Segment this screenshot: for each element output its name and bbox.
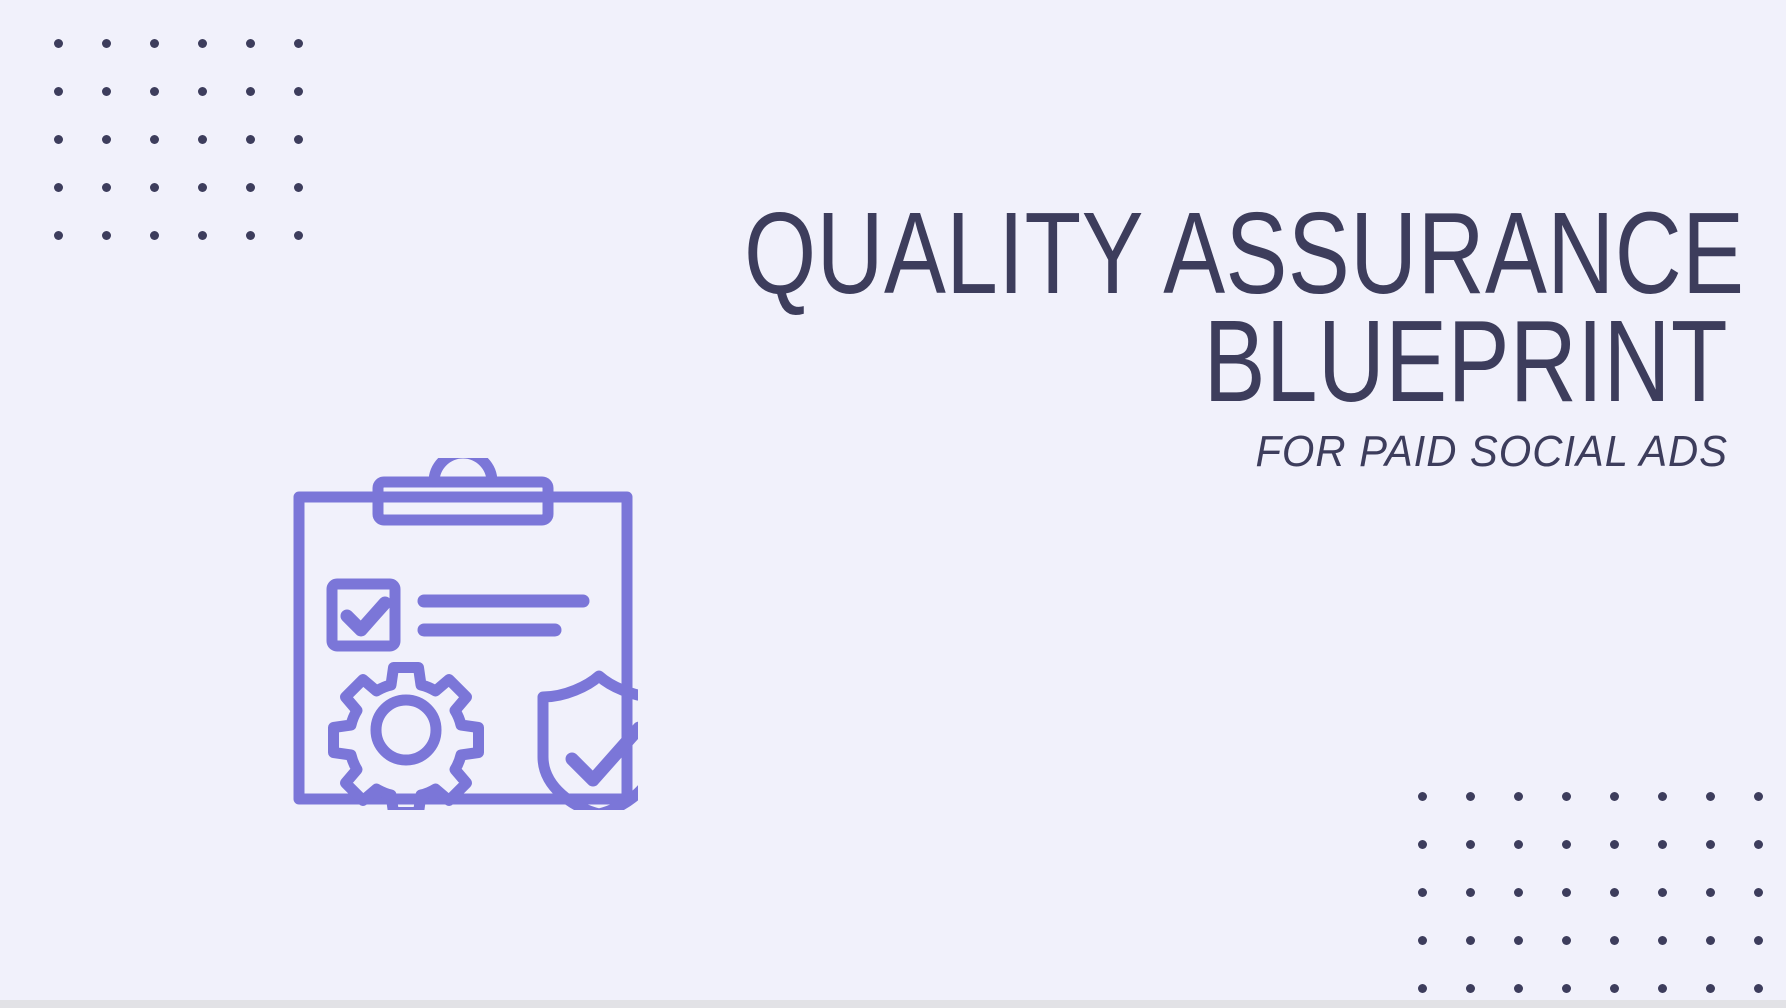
- gear-outline: [334, 668, 479, 811]
- dot: [1418, 792, 1427, 801]
- page-title-line-2: BLUEPRINT: [744, 308, 1728, 416]
- dot: [1754, 840, 1763, 849]
- dot: [102, 231, 111, 240]
- dot: [1610, 936, 1619, 945]
- dot: [1514, 936, 1523, 945]
- checkbox-check-mark: [347, 603, 385, 630]
- dot: [54, 87, 63, 96]
- dot: [246, 87, 255, 96]
- dot: [1658, 840, 1667, 849]
- dot: [1610, 792, 1619, 801]
- dot: [246, 135, 255, 144]
- dot: [150, 231, 159, 240]
- dot: [1754, 936, 1763, 945]
- dot: [1466, 936, 1475, 945]
- dot: [1658, 792, 1667, 801]
- dot: [1418, 984, 1427, 993]
- dot: [246, 231, 255, 240]
- dot: [102, 135, 111, 144]
- dot: [198, 231, 207, 240]
- dot: [1706, 936, 1715, 945]
- dot: [1658, 888, 1667, 897]
- dot: [150, 39, 159, 48]
- dot: [1562, 936, 1571, 945]
- dot: [1658, 936, 1667, 945]
- decorative-dot-grid-top-left: [34, 19, 322, 259]
- dot: [294, 231, 303, 240]
- dot: [54, 135, 63, 144]
- dot: [246, 183, 255, 192]
- dot: [198, 183, 207, 192]
- dot: [1754, 984, 1763, 993]
- dot: [1466, 792, 1475, 801]
- decorative-dot-grid-bottom-right: [1398, 772, 1782, 1008]
- dot: [1514, 792, 1523, 801]
- dot: [294, 135, 303, 144]
- dot: [102, 87, 111, 96]
- dot: [1610, 840, 1619, 849]
- clipboard-checklist-gear-shield-icon: [288, 458, 638, 810]
- dot: [1514, 840, 1523, 849]
- dot: [1466, 984, 1475, 993]
- dot: [1562, 840, 1571, 849]
- dot: [54, 183, 63, 192]
- dot: [198, 87, 207, 96]
- dot: [1706, 792, 1715, 801]
- dot: [1706, 840, 1715, 849]
- dot: [1514, 888, 1523, 897]
- dot: [1706, 888, 1715, 897]
- dot: [150, 183, 159, 192]
- dot: [102, 39, 111, 48]
- dot: [102, 183, 111, 192]
- dot: [246, 39, 255, 48]
- dot: [1466, 840, 1475, 849]
- dot: [1562, 888, 1571, 897]
- bottom-strip: [0, 1000, 1786, 1008]
- dot: [1418, 840, 1427, 849]
- dot: [1754, 888, 1763, 897]
- dot: [1610, 984, 1619, 993]
- dot: [1706, 984, 1715, 993]
- dot: [1418, 936, 1427, 945]
- dot: [294, 39, 303, 48]
- dot: [150, 135, 159, 144]
- dot: [1514, 984, 1523, 993]
- page-subtitle: FOR PAID SOCIAL ADS: [560, 430, 1729, 474]
- page-title-line-1: QUALITY ASSURANCE: [744, 200, 1728, 308]
- dot: [1466, 888, 1475, 897]
- gear-center-hole: [376, 700, 436, 760]
- dot: [54, 231, 63, 240]
- dot: [150, 87, 159, 96]
- dot: [294, 183, 303, 192]
- dot: [1418, 888, 1427, 897]
- dot: [1754, 792, 1763, 801]
- dot: [198, 135, 207, 144]
- page-title-block: QUALITY ASSURANCE BLUEPRINT FOR PAID SOC…: [498, 200, 1728, 474]
- dot: [1562, 792, 1571, 801]
- dot: [294, 87, 303, 96]
- dot: [1658, 984, 1667, 993]
- dot: [1610, 888, 1619, 897]
- dot: [1562, 984, 1571, 993]
- dot: [54, 39, 63, 48]
- dot: [198, 39, 207, 48]
